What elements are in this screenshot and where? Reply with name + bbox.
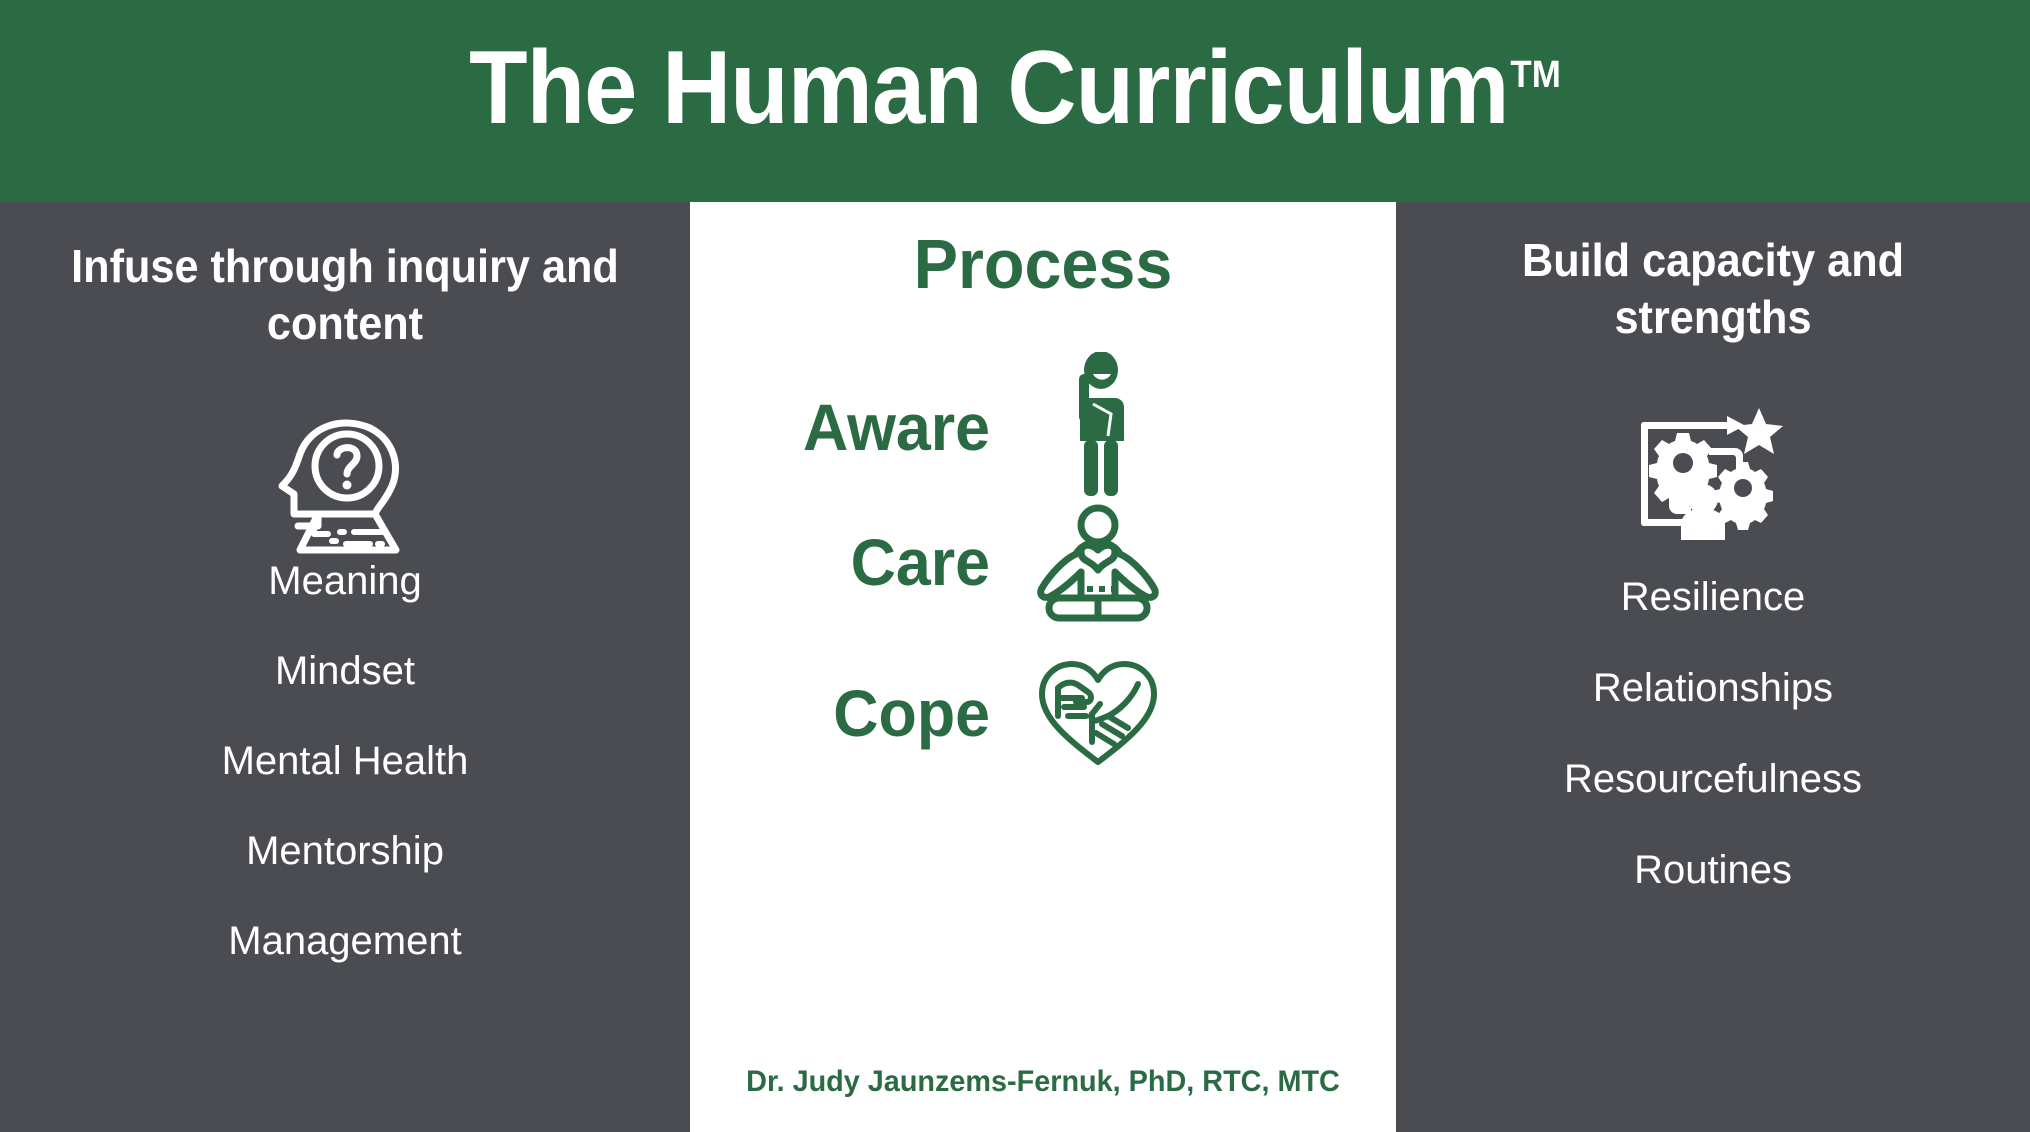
right-panel-list: Resilience Relationships Resourcefulness… bbox=[1396, 574, 2030, 938]
trademark-symbol: TM bbox=[1510, 54, 1560, 96]
process-step-label: Cope bbox=[705, 678, 990, 748]
list-item: Mindset bbox=[0, 648, 690, 694]
thinking-person-icon bbox=[1018, 352, 1178, 502]
right-panel: Build capacity and strengths bbox=[1396, 202, 2030, 1132]
process-step-care: Care bbox=[690, 502, 1396, 622]
infographic-poster: The Human CurriculumTM Infuse through in… bbox=[0, 0, 2030, 1132]
list-item: Mentorship bbox=[0, 828, 690, 874]
left-panel-heading: Infuse through inquiry and content bbox=[21, 238, 670, 352]
list-item: Routines bbox=[1396, 847, 2030, 893]
list-item: Relationships bbox=[1396, 665, 2030, 711]
gears-person-star-icon bbox=[1633, 400, 1793, 545]
list-item: Resilience bbox=[1396, 574, 2030, 620]
head-question-mark-icon bbox=[270, 414, 420, 559]
page-title-text: The Human Curriculum bbox=[469, 30, 1508, 146]
meditating-person-heart-icon bbox=[1018, 502, 1178, 622]
left-panel: Infuse through inquiry and content bbox=[0, 202, 690, 1132]
center-panel: Process Aware bbox=[690, 202, 1396, 1132]
left-panel-list: Meaning Mindset Mental Health Mentorship… bbox=[0, 558, 690, 1008]
list-item: Management bbox=[0, 918, 690, 964]
page-title: The Human CurriculumTM bbox=[81, 28, 1949, 148]
right-panel-heading: Build capacity and strengths bbox=[1415, 232, 2011, 346]
heart-hands-icon bbox=[1018, 654, 1178, 772]
list-item: Resourcefulness bbox=[1396, 756, 2030, 802]
center-panel-title: Process bbox=[708, 224, 1379, 304]
list-item: Meaning bbox=[0, 558, 690, 604]
process-step-label: Aware bbox=[705, 392, 990, 462]
process-step-aware: Aware bbox=[690, 352, 1396, 502]
author-credit: Dr. Judy Jaunzems-Fernuk, PhD, RTC, MTC bbox=[704, 1064, 1382, 1100]
process-step-cope: Cope bbox=[690, 654, 1396, 772]
process-step-label: Care bbox=[705, 527, 990, 597]
list-item: Mental Health bbox=[0, 738, 690, 784]
